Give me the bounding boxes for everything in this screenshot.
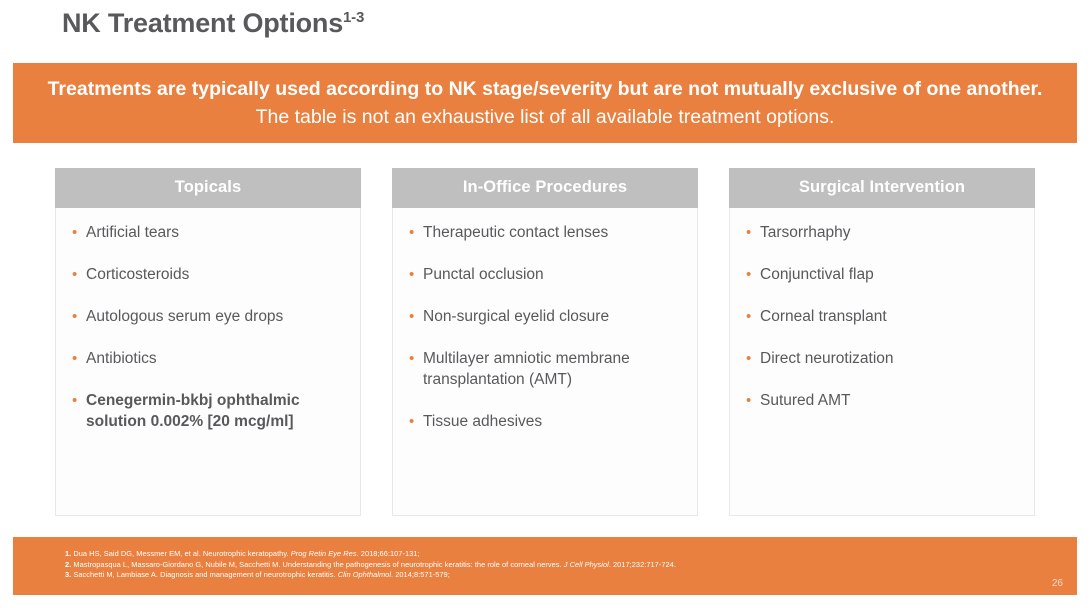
column-header-topicals: Topicals bbox=[55, 168, 361, 208]
reference-number: 3. bbox=[65, 570, 71, 579]
bullet-icon: • bbox=[405, 264, 423, 285]
bullet-icon: • bbox=[742, 348, 760, 369]
bullet-icon: • bbox=[405, 348, 423, 369]
bullet-icon: • bbox=[742, 222, 760, 243]
reference-journal: Prog Retin Eye Res bbox=[291, 549, 357, 558]
list-item-label: Tarsorrhaphy bbox=[760, 222, 1024, 243]
list-item-label: Punctal occlusion bbox=[423, 264, 687, 285]
reference-authors-title: Mastropasqua L, Massaro-Giordano G, Nubi… bbox=[73, 560, 561, 569]
bullet-icon: • bbox=[742, 306, 760, 327]
reference-citation: . 2018;66:107-131; bbox=[357, 549, 420, 558]
list-item: • Tarsorrhaphy bbox=[742, 222, 1024, 243]
bullet-icon: • bbox=[405, 411, 423, 432]
list-item-label: Non-surgical eyelid closure bbox=[423, 306, 687, 327]
list-item-label: Cenegermin-bkbj ophthalmic solution 0.00… bbox=[86, 390, 350, 432]
bullet-icon: • bbox=[405, 222, 423, 243]
reference-journal: J Cell Physiol bbox=[564, 560, 609, 569]
treatment-column-topicals: Topicals • Artificial tears • Corticoste… bbox=[55, 168, 361, 516]
list-item-label: Direct neurotization bbox=[760, 348, 1024, 369]
bullet-icon: • bbox=[68, 390, 86, 411]
reference-item: 1. Dua HS, Said DG, Messmer EM, et al. N… bbox=[65, 549, 676, 560]
list-item-label: Therapeutic contact lenses bbox=[423, 222, 687, 243]
page-title-text: NK Treatment Options bbox=[62, 8, 343, 38]
list-item-label: Tissue adhesives bbox=[423, 411, 687, 432]
bullet-icon: • bbox=[405, 306, 423, 327]
list-item: • Multilayer amniotic membrane transplan… bbox=[405, 348, 687, 390]
page-title: NK Treatment Options1-3 bbox=[62, 8, 364, 39]
list-item: • Autologous serum eye drops bbox=[68, 306, 350, 327]
list-item: • Punctal occlusion bbox=[405, 264, 687, 285]
list-item: • Tissue adhesives bbox=[405, 411, 687, 432]
column-body-topicals: • Artificial tears • Corticosteroids • A… bbox=[55, 208, 361, 516]
column-header-surgical-intervention: Surgical Intervention bbox=[729, 168, 1035, 208]
list-item: • Direct neurotization bbox=[742, 348, 1024, 369]
bullet-list-in-office-procedures: • Therapeutic contact lenses • Punctal o… bbox=[405, 222, 687, 432]
reference-citation: . 2014;8:571-579; bbox=[391, 570, 450, 579]
column-header-in-office-procedures: In-Office Procedures bbox=[392, 168, 698, 208]
reference-number: 2. bbox=[65, 560, 71, 569]
treatment-options-table: Topicals • Artificial tears • Corticoste… bbox=[55, 168, 1035, 516]
bullet-icon: • bbox=[68, 306, 86, 327]
bullet-icon: • bbox=[68, 348, 86, 369]
bullet-list-topicals: • Artificial tears • Corticosteroids • A… bbox=[68, 222, 350, 432]
callout-line-primary: Treatments are typically used according … bbox=[48, 75, 1043, 103]
treatment-column-in-office-procedures: In-Office Procedures • Therapeutic conta… bbox=[392, 168, 698, 516]
list-item-label: Artificial tears bbox=[86, 222, 350, 243]
list-item-label: Corticosteroids bbox=[86, 264, 350, 285]
callout-line-secondary: The table is not an exhaustive list of a… bbox=[256, 103, 835, 131]
bullet-icon: • bbox=[742, 264, 760, 285]
list-item: • Corticosteroids bbox=[68, 264, 350, 285]
list-item-label: Autologous serum eye drops bbox=[86, 306, 350, 327]
list-item: • Conjunctival flap bbox=[742, 264, 1024, 285]
reference-journal: Clin Ophthalmol bbox=[338, 570, 391, 579]
list-item-label: Multilayer amniotic membrane transplanta… bbox=[423, 348, 687, 390]
reference-authors-title: Dua HS, Said DG, Messmer EM, et al. Neur… bbox=[73, 549, 288, 558]
footer-bar: 1. Dua HS, Said DG, Messmer EM, et al. N… bbox=[13, 537, 1077, 595]
page-number: 26 bbox=[1052, 578, 1063, 589]
reference-citation: . 2017;232:717-724. bbox=[609, 560, 676, 569]
list-item: • Antibiotics bbox=[68, 348, 350, 369]
list-item: • Artificial tears bbox=[68, 222, 350, 243]
callout-banner: Treatments are typically used according … bbox=[13, 63, 1077, 143]
treatment-column-surgical-intervention: Surgical Intervention • Tarsorrhaphy • C… bbox=[729, 168, 1035, 516]
bullet-icon: • bbox=[742, 390, 760, 411]
bullet-list-surgical-intervention: • Tarsorrhaphy • Conjunctival flap • Cor… bbox=[742, 222, 1024, 411]
list-item-label: Conjunctival flap bbox=[760, 264, 1024, 285]
list-item: • Sutured AMT bbox=[742, 390, 1024, 411]
list-item-label: Sutured AMT bbox=[760, 390, 1024, 411]
reference-item: 3. Sacchetti M, Lambiase A. Diagnosis an… bbox=[65, 570, 676, 581]
list-item-label: Antibiotics bbox=[86, 348, 350, 369]
bullet-icon: • bbox=[68, 222, 86, 243]
column-body-in-office-procedures: • Therapeutic contact lenses • Punctal o… bbox=[392, 208, 698, 516]
page-title-superscript: 1-3 bbox=[343, 9, 364, 26]
bullet-icon: • bbox=[68, 264, 86, 285]
list-item: • Non-surgical eyelid closure bbox=[405, 306, 687, 327]
column-body-surgical-intervention: • Tarsorrhaphy • Conjunctival flap • Cor… bbox=[729, 208, 1035, 516]
list-item: • Therapeutic contact lenses bbox=[405, 222, 687, 243]
list-item: • Corneal transplant bbox=[742, 306, 1024, 327]
reference-authors-title: Sacchetti M, Lambiase A. Diagnosis and m… bbox=[73, 570, 335, 579]
list-item: • Cenegermin-bkbj ophthalmic solution 0.… bbox=[68, 390, 350, 432]
reference-list: 1. Dua HS, Said DG, Messmer EM, et al. N… bbox=[65, 549, 676, 581]
reference-number: 1. bbox=[65, 549, 71, 558]
list-item-label: Corneal transplant bbox=[760, 306, 1024, 327]
reference-item: 2. Mastropasqua L, Massaro-Giordano G, N… bbox=[65, 560, 676, 571]
